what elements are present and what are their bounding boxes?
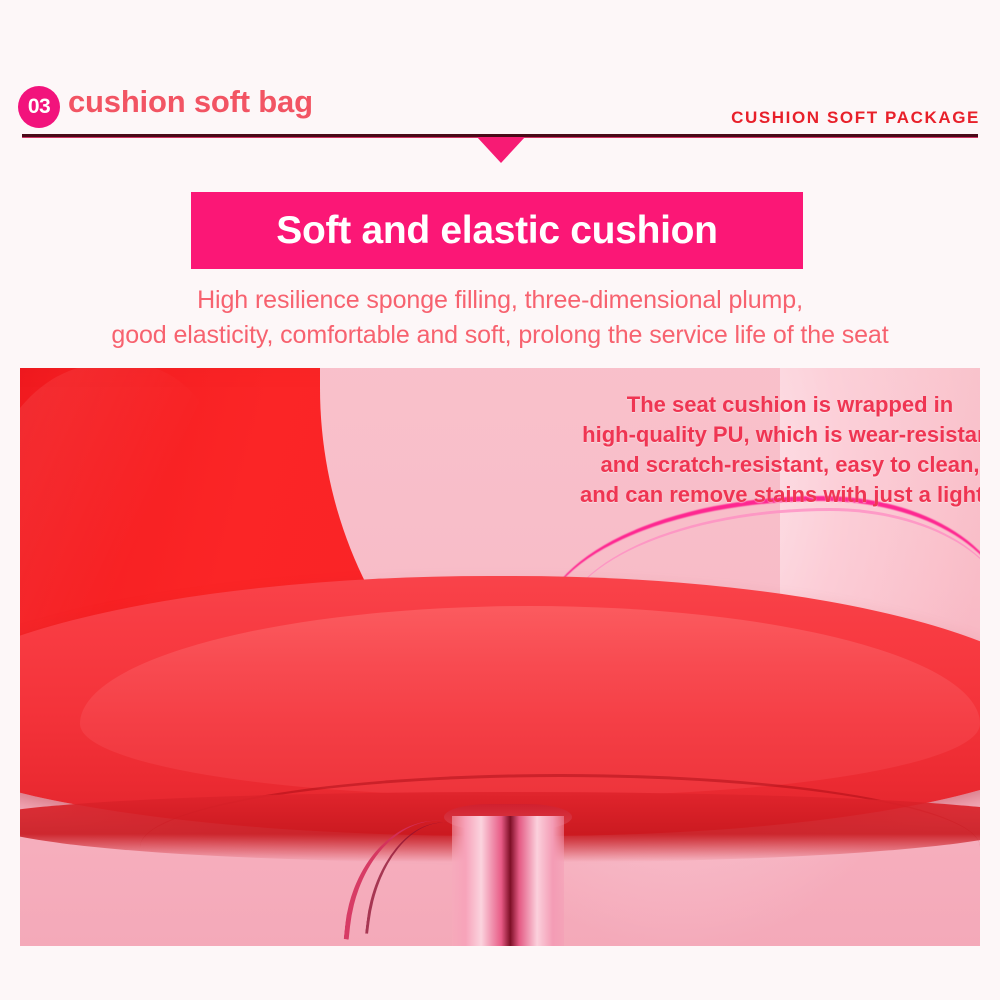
feature-description-line-2: good elasticity, comfortable and soft, p… — [0, 318, 1000, 353]
product-photo: The seat cushion is wrapped in high-qual… — [20, 368, 980, 946]
headline-text: Soft and elastic cushion — [191, 192, 803, 269]
section-header: 03 cushion soft bag CUSHION SOFT PACKAGE — [0, 0, 1000, 140]
photo-overlay-description: The seat cushion is wrapped in high-qual… — [580, 390, 980, 510]
photo-overlay-line-1: The seat cushion is wrapped in — [580, 390, 980, 420]
down-triangle-icon — [477, 137, 525, 163]
feature-description-line-1: High resilience sponge filling, three-di… — [0, 283, 1000, 318]
product-detail-page: 03 cushion soft bag CUSHION SOFT PACKAGE… — [0, 0, 1000, 1000]
section-number-badge: 03 — [18, 86, 60, 128]
photo-overlay-line-4: and can remove stains with just a light … — [580, 480, 980, 510]
section-title: cushion soft bag — [68, 84, 313, 120]
section-eyebrow-label: CUSHION SOFT PACKAGE — [731, 108, 980, 128]
feature-description: High resilience sponge filling, three-di… — [0, 283, 1000, 353]
photo-overlay-line-2: high-quality PU, which is wear-resistant — [580, 420, 980, 450]
headline-banner: Soft and elastic cushion — [191, 192, 803, 269]
photo-overlay-line-3: and scratch-resistant, easy to clean, — [580, 450, 980, 480]
